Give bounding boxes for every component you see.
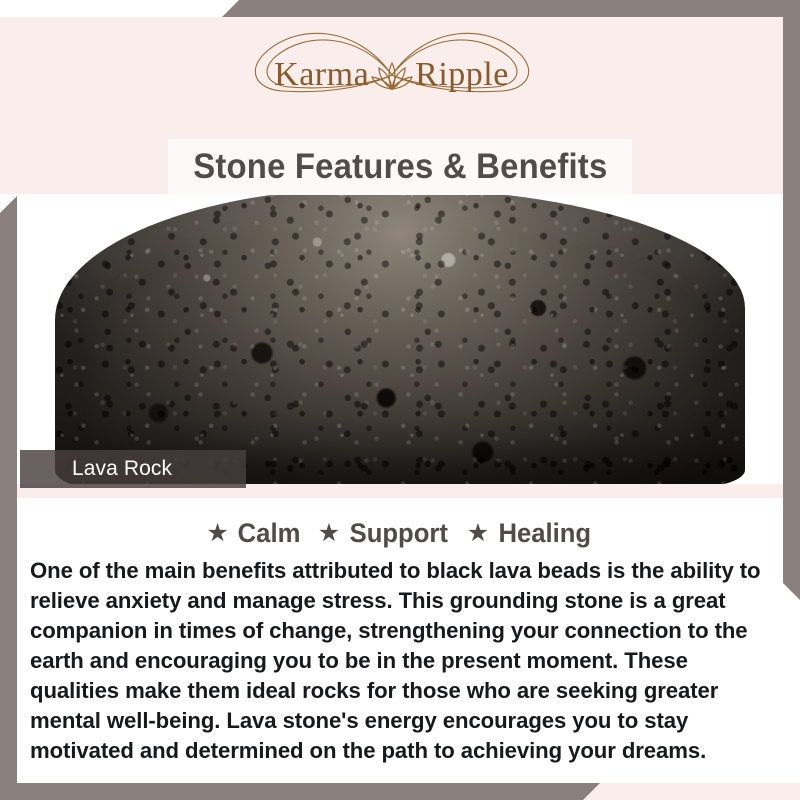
benefit-label-support: Support (350, 518, 448, 549)
title-banner: Stone Features & Benefits (168, 139, 632, 195)
frame-edge-right (783, 0, 800, 600)
brand-logo: Karma Ripple (0, 55, 783, 95)
lava-rock-photo (17, 194, 783, 484)
star-icon: ★ (206, 521, 228, 546)
brand-mark: Karma Ripple (274, 55, 509, 95)
benefit-item-support: ★ Support (318, 518, 451, 549)
description-paragraph: One of the main benefits attributed to b… (30, 556, 771, 766)
star-icon: ★ (318, 521, 340, 546)
rock-texture (55, 194, 745, 484)
page-title: Stone Features & Benefits (193, 147, 607, 187)
brand-name-left: Karma (274, 58, 369, 92)
frame-edge-bottom (0, 783, 600, 800)
stone-benefits-poster: Karma Ripple (0, 0, 800, 800)
benefit-item-healing: ★ Healing (467, 518, 594, 549)
photo-caption-bar: Lava Rock (20, 450, 246, 488)
header-cream-corner (0, 17, 222, 34)
photo-caption-text: Lava Rock (20, 457, 172, 481)
brand-name-right: Ripple (415, 58, 509, 92)
benefit-label-healing: Healing (499, 518, 592, 549)
lotus-icon (369, 55, 415, 95)
star-icon: ★ (467, 521, 489, 546)
benefits-row: ★ Calm ★ Support ★ Healing (17, 518, 783, 549)
rock-shape (55, 194, 745, 484)
benefit-label-calm: Calm (237, 518, 300, 549)
frame-edge-top (222, 0, 800, 17)
benefit-item-calm: ★ Calm (206, 518, 301, 549)
frame-edge-left (0, 196, 17, 800)
